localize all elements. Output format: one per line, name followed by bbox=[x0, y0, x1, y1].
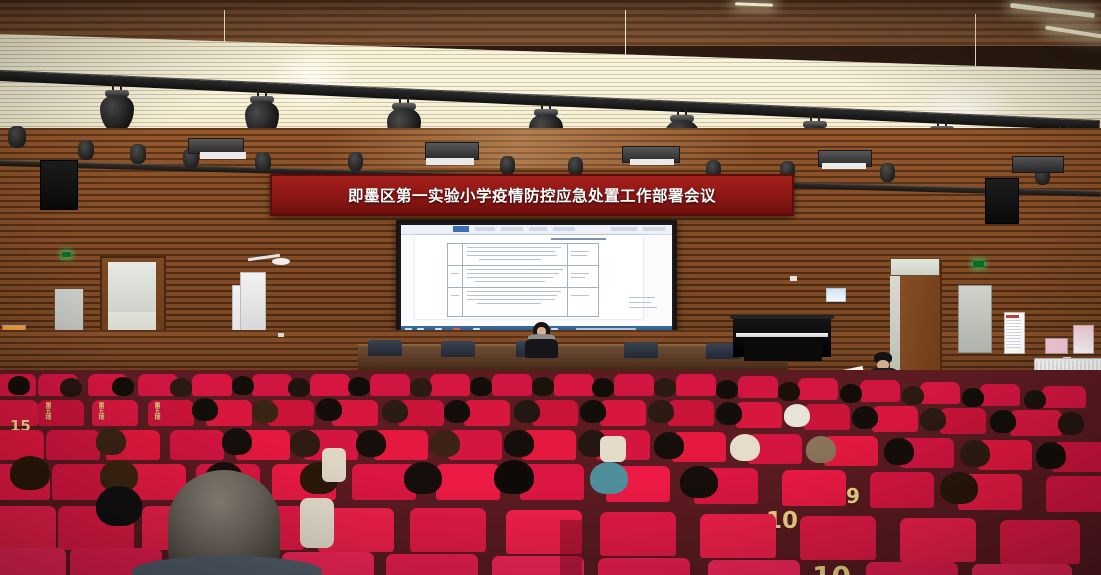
wall-poster-schedule-rows bbox=[1006, 320, 1021, 348]
attendee-head bbox=[654, 378, 676, 397]
par-can-light bbox=[500, 156, 515, 175]
attendee-head bbox=[940, 472, 978, 504]
audience-seat[interactable] bbox=[1042, 386, 1086, 408]
audience-seat[interactable] bbox=[920, 382, 960, 404]
audience-seat[interactable] bbox=[798, 378, 838, 400]
audience-seat[interactable] bbox=[980, 384, 1020, 406]
screen-table-row-divider bbox=[447, 287, 599, 288]
screen-sidebar-text bbox=[629, 297, 655, 298]
attendee-clothing bbox=[600, 436, 626, 462]
audience-seat[interactable] bbox=[600, 400, 646, 426]
attendee-head bbox=[806, 436, 836, 463]
attendee-head bbox=[470, 377, 492, 396]
screen-doc-text bbox=[571, 251, 589, 252]
attendee-head bbox=[716, 380, 738, 399]
attendee-clothing bbox=[300, 498, 334, 548]
audience-seat[interactable] bbox=[0, 548, 66, 575]
attendee-head bbox=[1058, 412, 1084, 435]
flood-light-lens bbox=[822, 163, 866, 169]
audience-seat[interactable] bbox=[940, 408, 986, 434]
audience-seat[interactable] bbox=[310, 374, 350, 396]
screen-doc-text bbox=[571, 295, 589, 296]
screen-doc-text bbox=[467, 269, 563, 270]
audience-seat[interactable] bbox=[436, 464, 500, 500]
attendee-head bbox=[252, 400, 278, 423]
screen-doc-text bbox=[475, 281, 545, 282]
audience-seat[interactable] bbox=[1000, 520, 1080, 564]
attendee-head bbox=[730, 434, 760, 461]
audience-seat[interactable] bbox=[676, 374, 716, 396]
wood-wall-sheen bbox=[330, 128, 750, 168]
screen-doc-text bbox=[467, 299, 555, 300]
attendee-head bbox=[348, 377, 370, 396]
auditorium-photo: 即墨区第一实验小学疫情防控应急处置工作部署会议 bbox=[0, 0, 1101, 575]
screen-table-border bbox=[447, 316, 599, 317]
par-can-light bbox=[255, 152, 271, 172]
audience-seat[interactable] bbox=[736, 402, 782, 428]
audience-seat[interactable] bbox=[252, 374, 292, 396]
wall-loudspeaker bbox=[985, 178, 1019, 224]
screen-sidebar-text bbox=[629, 302, 651, 303]
screen-doc-text bbox=[467, 251, 555, 252]
stage-chair[interactable] bbox=[441, 341, 475, 357]
screen-doc-text bbox=[467, 247, 561, 248]
seat-row-marker: 第五排 bbox=[97, 402, 103, 420]
wall-notice-small bbox=[790, 276, 797, 281]
screen-doc-text bbox=[467, 291, 561, 292]
audience-seat[interactable] bbox=[866, 562, 958, 575]
par-can-light bbox=[78, 140, 94, 160]
screen-toolbar-tab bbox=[611, 227, 637, 231]
exit-sign-icon bbox=[973, 261, 984, 267]
visualizer-stand-panel bbox=[240, 272, 266, 336]
screen-doc-text bbox=[467, 255, 557, 256]
wall-poster-schedule-header bbox=[1006, 315, 1019, 318]
audience-seat[interactable] bbox=[410, 508, 486, 552]
audience-seat[interactable] bbox=[870, 472, 934, 508]
audience-seat[interactable] bbox=[386, 554, 478, 575]
attendee-head bbox=[778, 382, 800, 401]
attendee-head bbox=[840, 384, 862, 403]
attendee-head bbox=[494, 460, 534, 494]
attendee-head bbox=[8, 376, 30, 395]
attendee-head bbox=[884, 438, 914, 465]
attendee-head bbox=[902, 386, 924, 405]
audience-seat[interactable] bbox=[492, 374, 532, 396]
screen-toolbar-tab bbox=[529, 227, 547, 231]
attendee-head bbox=[654, 432, 684, 459]
screen-table-border bbox=[462, 243, 463, 317]
attendee-head bbox=[1036, 442, 1066, 469]
flood-light-lens bbox=[200, 152, 246, 159]
screen-doc-text bbox=[571, 255, 587, 256]
attendee-head bbox=[192, 398, 218, 421]
attendee-head bbox=[290, 430, 320, 457]
attendee-head bbox=[60, 378, 82, 397]
audience-seat[interactable] bbox=[860, 380, 900, 402]
piano-lid-top bbox=[730, 315, 834, 319]
audience-seat[interactable] bbox=[554, 374, 594, 396]
stage-chair[interactable] bbox=[368, 340, 402, 356]
screen-table-border bbox=[447, 243, 448, 317]
screen-table-border bbox=[447, 243, 599, 244]
screen-doc-text bbox=[571, 277, 585, 278]
doorway-left-glass bbox=[108, 262, 156, 312]
screen-doc-text bbox=[467, 277, 553, 278]
attendee-head bbox=[590, 462, 628, 494]
audience-seat[interactable] bbox=[430, 374, 470, 396]
seat-row-marker: 第五排 bbox=[153, 402, 159, 420]
attendee-head bbox=[592, 378, 614, 397]
meeting-banner: 即墨区第一实验小学疫情防控应急处置工作部署会议 bbox=[270, 174, 794, 216]
attendee-head bbox=[990, 410, 1016, 433]
seat-number: 9 bbox=[846, 484, 860, 508]
attendee-head bbox=[962, 388, 984, 407]
banner-text: 即墨区第一实验小学疫情防控应急处置工作部署会议 bbox=[348, 184, 716, 206]
visualizer-lamp-head bbox=[272, 258, 290, 265]
audience-seat[interactable] bbox=[464, 400, 510, 426]
audience-seat[interactable] bbox=[598, 558, 690, 575]
screen-doc-text bbox=[467, 295, 557, 296]
wall-poster-pink bbox=[1045, 338, 1068, 354]
attendee-head bbox=[288, 378, 310, 397]
attendee-head bbox=[112, 377, 134, 396]
attendee-head bbox=[10, 456, 50, 490]
attendee-head bbox=[444, 400, 470, 423]
screen-doc-text bbox=[451, 273, 459, 274]
attendee-head bbox=[680, 466, 718, 498]
screen-table-border bbox=[598, 243, 599, 317]
attendee-head bbox=[316, 398, 342, 421]
audience-seat[interactable] bbox=[800, 516, 876, 560]
par-can-light bbox=[8, 126, 26, 148]
wall-utility-panel bbox=[958, 285, 992, 353]
wall-notice-blue bbox=[826, 288, 846, 302]
screen-sidebar-text bbox=[629, 307, 657, 308]
ceiling bbox=[0, 0, 1101, 46]
screen-table-row-divider bbox=[447, 265, 599, 266]
seat-number: 10 bbox=[812, 560, 851, 575]
screen-toolbar-tab bbox=[643, 227, 665, 231]
attendee-head bbox=[960, 440, 990, 467]
audience-seat[interactable] bbox=[782, 470, 846, 506]
projection-screen-content bbox=[401, 225, 672, 335]
screen-doc-text bbox=[477, 303, 541, 304]
audience-seat[interactable] bbox=[1010, 410, 1062, 436]
attendee-head bbox=[430, 430, 460, 457]
audience-seat[interactable] bbox=[192, 374, 232, 396]
screen-toolbar-tab bbox=[553, 227, 575, 231]
attendee-head bbox=[504, 430, 534, 457]
attendee-head bbox=[852, 406, 878, 429]
attendee-head bbox=[580, 400, 606, 423]
screen-doc-text bbox=[451, 295, 459, 296]
attendee-head bbox=[404, 462, 442, 494]
stage-chair[interactable] bbox=[624, 342, 658, 358]
audience-seat[interactable] bbox=[0, 506, 56, 550]
attendee-head bbox=[532, 377, 554, 396]
audience-seat[interactable] bbox=[668, 400, 714, 426]
exit-sign-icon bbox=[62, 252, 71, 257]
screen-toolbar-tab bbox=[501, 227, 523, 231]
audience-seat[interactable] bbox=[370, 374, 410, 396]
door-right-transom bbox=[890, 258, 940, 276]
screen-toolbar-tab bbox=[453, 226, 469, 232]
attendee-head bbox=[232, 376, 254, 395]
attendee-head bbox=[1024, 390, 1046, 409]
attendee-head bbox=[716, 402, 742, 425]
attendee-head bbox=[170, 378, 192, 397]
screen-toolbar-tab bbox=[475, 227, 495, 231]
attendee-head bbox=[382, 400, 408, 423]
audience-seat[interactable] bbox=[600, 512, 676, 556]
seat-row-marker: 第五排 bbox=[44, 402, 50, 420]
par-can-light bbox=[130, 144, 146, 164]
aisle-shadow bbox=[560, 520, 582, 575]
screen-doc-text bbox=[467, 273, 559, 274]
wall-poster-pink-white bbox=[1073, 325, 1094, 354]
audience-seat[interactable] bbox=[972, 564, 1072, 575]
piano-body-lower bbox=[744, 337, 822, 361]
flood-light-lens bbox=[630, 159, 674, 165]
attendee-head bbox=[96, 428, 126, 455]
audience-seat[interactable] bbox=[708, 560, 800, 575]
audience-seat[interactable] bbox=[1046, 476, 1101, 512]
attendee-clothing bbox=[322, 448, 346, 482]
presenter-body bbox=[525, 339, 558, 358]
audience-seat[interactable] bbox=[804, 404, 850, 430]
attendee-head bbox=[96, 486, 142, 526]
audience-seat[interactable] bbox=[614, 374, 654, 396]
audience-seat[interactable] bbox=[872, 406, 918, 432]
screen-table-border bbox=[567, 243, 568, 317]
audience-seat[interactable] bbox=[46, 430, 100, 460]
flood-light-lens bbox=[426, 158, 474, 165]
audience-seat[interactable] bbox=[0, 430, 44, 460]
stage-spotlight bbox=[95, 82, 139, 134]
screen-doc-title bbox=[551, 238, 606, 240]
flood-light-fixture bbox=[1012, 156, 1064, 173]
par-can-light bbox=[880, 163, 895, 182]
par-can-light bbox=[348, 152, 363, 171]
attendee-head bbox=[410, 378, 432, 397]
attendee-head bbox=[920, 408, 946, 431]
screen-doc-text bbox=[479, 259, 541, 260]
attendee-head bbox=[784, 404, 810, 427]
attendee-head bbox=[648, 400, 674, 423]
wall-notice-small bbox=[278, 333, 284, 337]
attendee-head bbox=[222, 428, 252, 455]
attendee-head bbox=[356, 430, 386, 457]
screen-doc-text bbox=[571, 273, 589, 274]
audience-seat[interactable] bbox=[170, 430, 224, 460]
audience-seat[interactable] bbox=[700, 514, 776, 558]
wall-loudspeaker bbox=[40, 160, 78, 210]
seated-presenter bbox=[524, 322, 558, 356]
audience-seat[interactable] bbox=[738, 376, 778, 398]
audience-seat[interactable] bbox=[900, 518, 976, 562]
attendee-head bbox=[514, 400, 540, 423]
